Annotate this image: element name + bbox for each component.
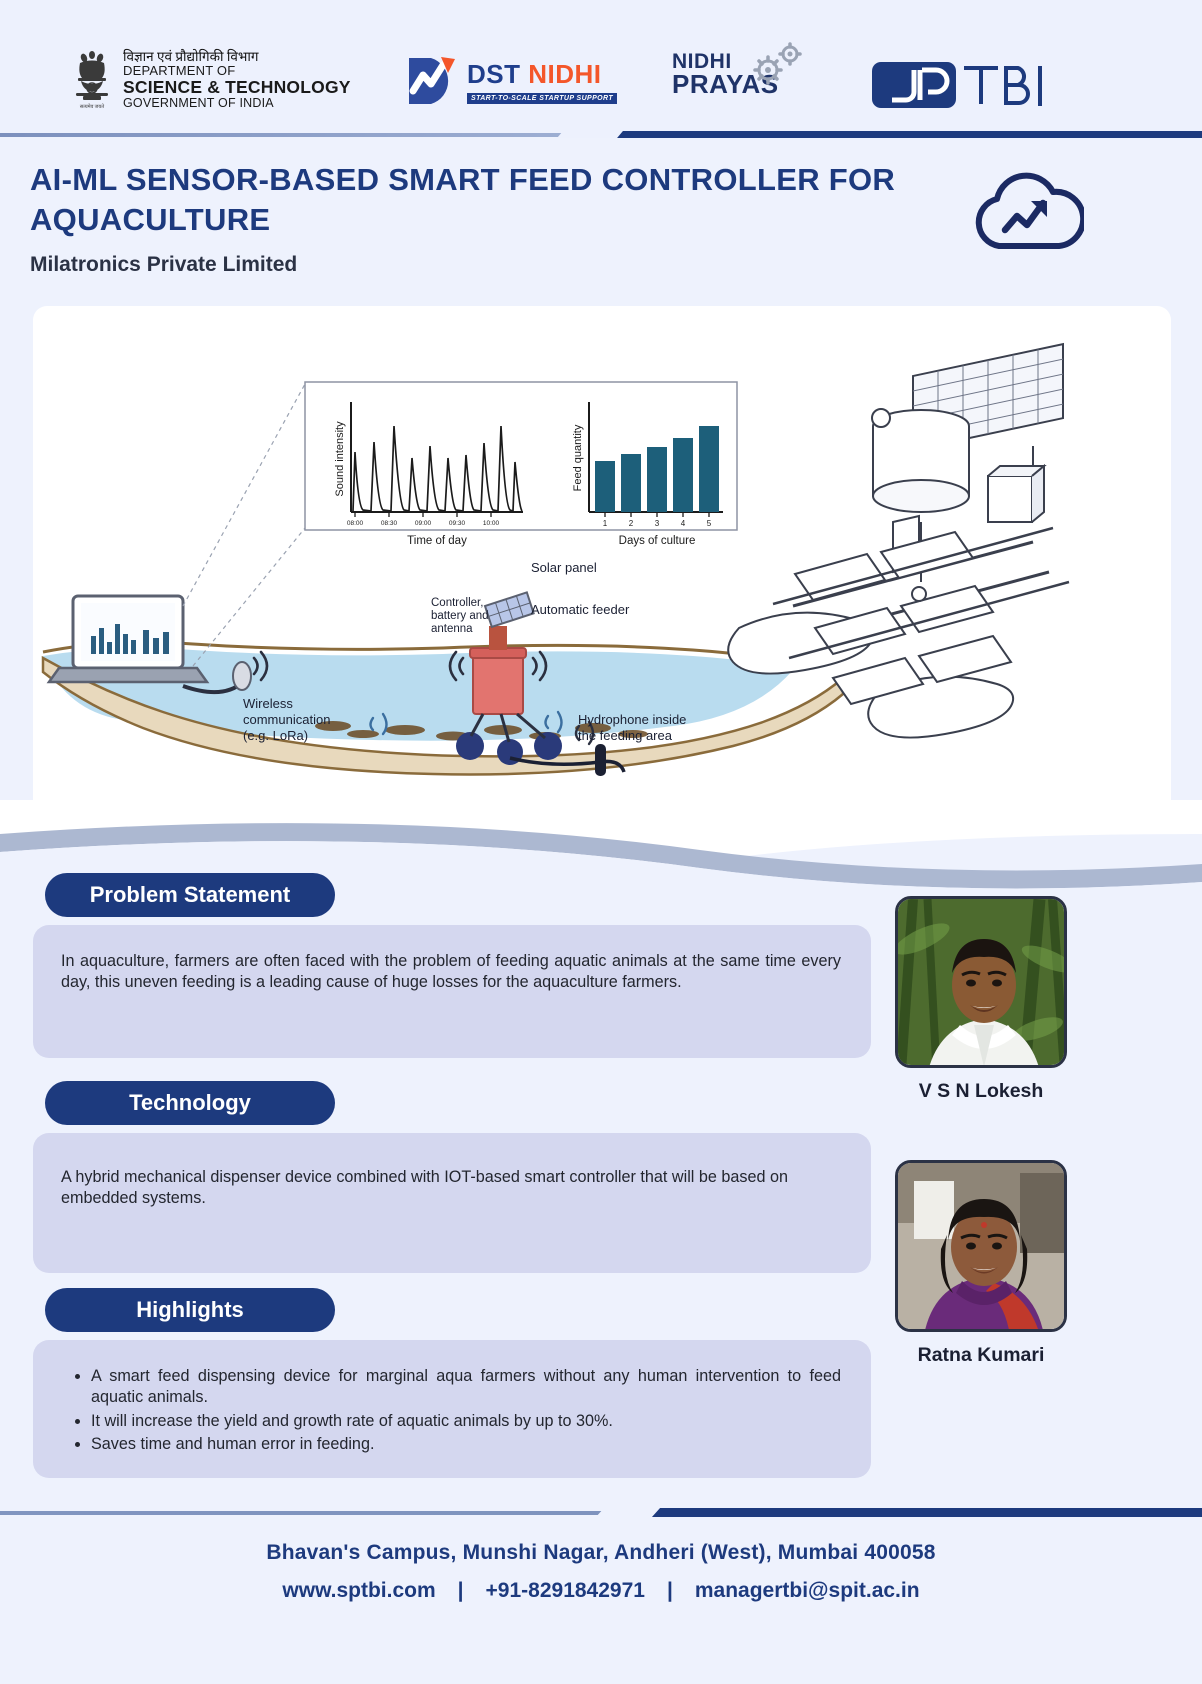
dst-nidhi-tagline: START-TO-SCALE STARTUP SUPPORT <box>467 93 617 104</box>
hydrophone-label-line1: Hydrophone inside <box>578 712 686 727</box>
ashoka-emblem-icon: सत्यमेव जयते <box>70 48 114 112</box>
controller-label-line3: antenna <box>431 623 473 635</box>
list-item: A smart feed dispensing device for margi… <box>91 1366 841 1409</box>
dst-logo-hindi: विज्ञान एवं प्रौद्योगिकी विभाग <box>123 50 351 64</box>
footer-email[interactable]: managertbi@spit.ac.in <box>695 1579 920 1603</box>
section-body-highlights: A smart feed dispensing device for margi… <box>33 1340 871 1478</box>
highlights-list: A smart feed dispensing device for margi… <box>91 1366 841 1456</box>
wireless-label-line1: Wireless <box>243 696 293 711</box>
wireless-label-line2: communication <box>243 712 330 727</box>
footer-website[interactable]: www.sptbi.com <box>282 1579 435 1603</box>
sound-chart-xlabel: Time of day <box>407 535 467 547</box>
feed-chart-xtick-0: 1 <box>603 519 608 528</box>
dst-logo-line3: GOVERNMENT OF INDIA <box>123 97 351 110</box>
sptbi-logo <box>870 58 1050 112</box>
sound-chart-xtick-2: 09:00 <box>415 520 432 527</box>
dst-nidhi-logo: DST NIDHI START-TO-SCALE STARTUP SUPPORT <box>405 55 617 107</box>
problem-text: In aquaculture, farmers are often faced … <box>61 952 841 991</box>
sound-chart-ylabel: Sound intensity <box>334 421 346 497</box>
gears-icon <box>748 40 808 91</box>
header-divider <box>0 131 1202 138</box>
controller-label-line2: battery and <box>431 610 489 622</box>
title-block: AI-ML SENSOR-BASED SMART FEED CONTROLLER… <box>30 160 910 277</box>
feed-chart-xtick-1: 2 <box>629 519 634 528</box>
feed-chart-ylabel: Feed quantity <box>572 424 584 491</box>
footer-bar: Bhavan's Campus, Munshi Nagar, Andheri (… <box>0 1517 1202 1684</box>
section-body-technology: A hybrid mechanical dispenser device com… <box>33 1133 871 1273</box>
company-name: Milatronics Private Limited <box>30 253 910 277</box>
person-card-1: V S N Lokesh <box>895 896 1067 1103</box>
section-heading-problem: Problem Statement <box>45 873 335 917</box>
avatar <box>895 896 1067 1068</box>
footer-phone[interactable]: +91-8291842971 <box>486 1579 645 1603</box>
person-name: Ratna Kumari <box>895 1344 1067 1367</box>
technology-text: A hybrid mechanical dispenser device com… <box>61 1168 788 1207</box>
header-bar: सत्यमेव जयते विज्ञान एवं प्रौद्योगिकी वि… <box>0 0 1202 133</box>
dst-logo: सत्यमेव जयते विज्ञान एवं प्रौद्योगिकी वि… <box>70 48 351 112</box>
controller-label-line1: Controller, <box>431 597 483 609</box>
sound-chart-xtick-1: 08:30 <box>381 520 398 527</box>
hero-diagram: Wireless communication (e.g. LoRa) <box>33 306 1171 822</box>
feed-chart-xtick-4: 5 <box>707 519 712 528</box>
nidhi-mark-icon <box>405 55 459 107</box>
list-item: It will increase the yield and growth ra… <box>91 1411 841 1432</box>
solar-panel-label: Solar panel <box>531 560 597 575</box>
section-heading-highlights: Highlights <box>45 1288 335 1332</box>
feed-chart-xtick-2: 3 <box>655 519 660 528</box>
person-card-2: Ratna Kumari <box>895 1160 1067 1367</box>
wireless-label-line3: (e.g. LoRa) <box>243 728 308 743</box>
section-body-problem: In aquaculture, farmers are often faced … <box>33 925 871 1058</box>
poster-root: सत्यमेव जयते विज्ञान एवं प्रौद्योगिकी वि… <box>0 0 1202 1684</box>
automatic-feeder-label: Automatic feeder <box>531 602 630 617</box>
sptbi-mark-icon <box>870 58 1050 112</box>
sound-chart-xtick-3: 09:30 <box>449 520 466 527</box>
aquaculture-system-illustration: Wireless communication (e.g. LoRa) <box>33 306 1171 822</box>
avatar <box>895 1160 1067 1332</box>
nidhi-prayas-logo: NIDHI PRAYAS <box>672 52 779 97</box>
laptop-icon <box>49 596 207 682</box>
feed-chart-xtick-3: 4 <box>681 519 686 528</box>
dst-logo-line2: SCIENCE & TECHNOLOGY <box>123 78 351 97</box>
footer-separator-1: | <box>458 1579 464 1603</box>
dst-logo-line1: DEPARTMENT OF <box>123 64 351 78</box>
hydrophone-label-line2: the feeding area <box>578 728 673 743</box>
footer-address: Bhavan's Campus, Munshi Nagar, Andheri (… <box>266 1541 935 1565</box>
page-title: AI-ML SENSOR-BASED SMART FEED CONTROLLER… <box>30 160 910 239</box>
svg-text:सत्यमेव जयते: सत्यमेव जयते <box>80 103 104 110</box>
cloud-growth-icon <box>969 168 1084 265</box>
footer-divider <box>0 1508 1202 1517</box>
sound-chart-xtick-4: 10:00 <box>483 520 500 527</box>
footer-separator-2: | <box>667 1579 673 1603</box>
list-item: Saves time and human error in feeding. <box>91 1434 841 1455</box>
dst-nidhi-word2: NIDHI <box>528 59 601 89</box>
sound-chart-xtick-0: 08:00 <box>347 520 364 527</box>
dst-nidhi-word1: DST <box>467 59 521 89</box>
feed-chart-xlabel: Days of culture <box>619 535 696 547</box>
section-heading-technology: Technology <box>45 1081 335 1125</box>
person-name: V S N Lokesh <box>895 1080 1067 1103</box>
